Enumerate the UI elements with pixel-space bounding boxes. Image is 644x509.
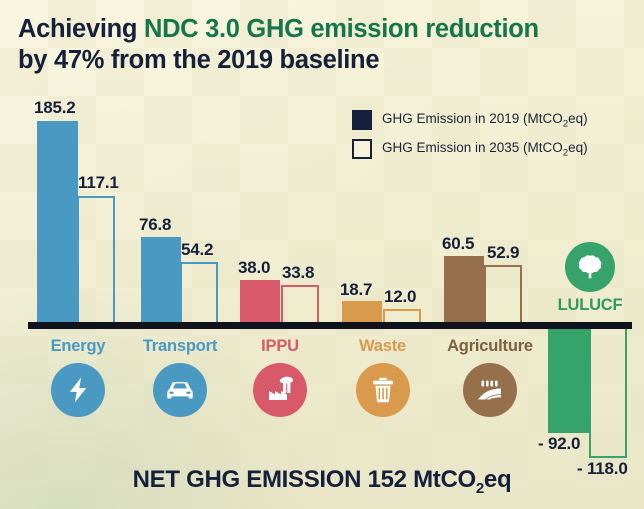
bar-lulucf-2035 xyxy=(589,329,627,458)
category-label-energy: Energy xyxy=(28,337,128,356)
category-energy[interactable]: Energy xyxy=(28,337,128,417)
bar-agriculture-2035 xyxy=(484,265,522,322)
zero-baseline-axis xyxy=(28,322,632,329)
category-label-lulucf: LULUCF xyxy=(540,296,640,315)
bar-label-agriculture-2035: 52.9 xyxy=(487,243,519,263)
bar-label-transport-2035: 54.2 xyxy=(181,240,213,260)
bar-label-ippu-2019: 38.0 xyxy=(238,258,270,278)
car-icon xyxy=(153,363,207,417)
bar-label-waste-2035: 12.0 xyxy=(384,287,416,307)
bar-waste-2019 xyxy=(342,301,382,322)
category-ippu[interactable]: IPPU xyxy=(235,337,325,417)
category-label-agriculture: Agriculture xyxy=(430,337,550,356)
infographic-canvas: Achieving NDC 3.0 GHG emission reduction… xyxy=(0,0,644,509)
bar-transport-2035 xyxy=(180,262,218,322)
bar-label-ippu-2035: 33.8 xyxy=(282,263,314,283)
category-label-transport: Transport xyxy=(125,337,235,356)
bar-chart-plot: 185.2 117.1 76.8 54.2 38.0 33.8 18.7 12.… xyxy=(0,0,644,509)
footer-text-post: eq xyxy=(484,466,511,493)
bar-label-lulucf-2019: - 92.0 xyxy=(538,434,580,454)
category-label-waste: Waste xyxy=(330,337,435,356)
factory-icon xyxy=(253,363,307,417)
category-agriculture[interactable]: Agriculture xyxy=(430,337,550,417)
lightning-bolt-icon xyxy=(51,363,105,417)
bar-waste-2035 xyxy=(383,309,421,322)
field-crops-icon xyxy=(463,363,517,417)
category-waste[interactable]: Waste xyxy=(330,337,435,417)
bar-energy-2035 xyxy=(77,196,115,322)
footer-subscript: 2 xyxy=(476,480,484,497)
net-emission-footer: NET GHG EMISSION 152 MtCO2eq xyxy=(0,466,644,497)
trash-bin-icon xyxy=(356,363,410,417)
category-transport[interactable]: Transport xyxy=(125,337,235,417)
bar-ippu-2019 xyxy=(240,280,280,322)
bar-agriculture-2019 xyxy=(444,256,484,322)
bar-label-waste-2019: 18.7 xyxy=(340,280,372,300)
bar-label-agriculture-2019: 60.5 xyxy=(442,234,474,254)
category-label-ippu: IPPU xyxy=(235,337,325,356)
footer-text-pre: NET GHG EMISSION 152 MtCO xyxy=(133,466,476,493)
bar-label-transport-2019: 76.8 xyxy=(139,215,171,235)
bar-label-energy-2019: 185.2 xyxy=(34,98,76,118)
bar-energy-2019 xyxy=(37,121,78,322)
bar-label-energy-2035: 117.1 xyxy=(78,173,119,193)
bar-lulucf-2019 xyxy=(548,329,589,433)
bar-transport-2019 xyxy=(141,237,181,322)
tree-icon xyxy=(565,242,615,292)
bar-ippu-2035 xyxy=(281,285,319,322)
